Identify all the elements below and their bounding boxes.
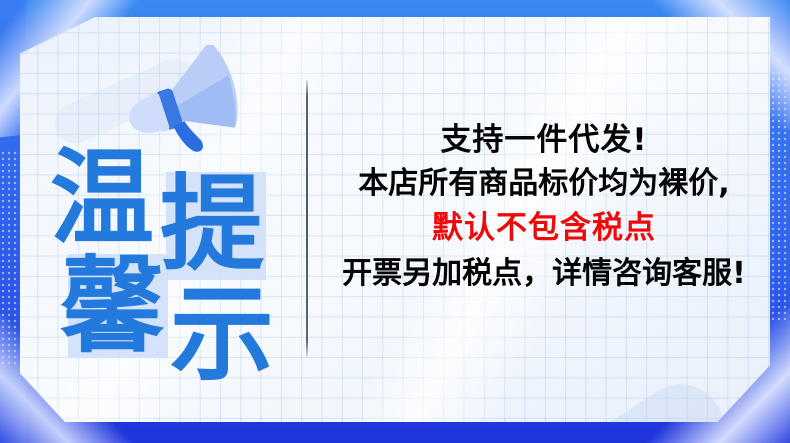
message-line-4: 开票另加税点，详情咨询客服! — [318, 251, 770, 296]
left-pane: 温 提 馨 示 — [20, 17, 306, 422]
message-line-2: 本店所有商品标价均为裸价, — [318, 162, 770, 206]
heading-char-ti: 提 — [160, 172, 264, 276]
message-line-1: 支持一件代发! — [318, 118, 770, 162]
promo-banner: 温 提 馨 示 支持一件代发! 本店所有商品标价均为裸价, 默认不包含税点 开票… — [0, 0, 790, 443]
message-block: 支持一件代发! 本店所有商品标价均为裸价, 默认不包含税点 开票另加税点，详情咨… — [318, 118, 770, 296]
heading-char-xin: 馨 — [60, 254, 164, 358]
vertical-divider — [306, 80, 308, 357]
heading-character-grid: 温 提 馨 示 — [54, 142, 282, 370]
heading-char-shi: 示 — [170, 282, 274, 386]
message-line-3-emphasis: 默认不包含税点 — [318, 206, 770, 251]
heading-char-wen: 温 — [50, 146, 154, 250]
